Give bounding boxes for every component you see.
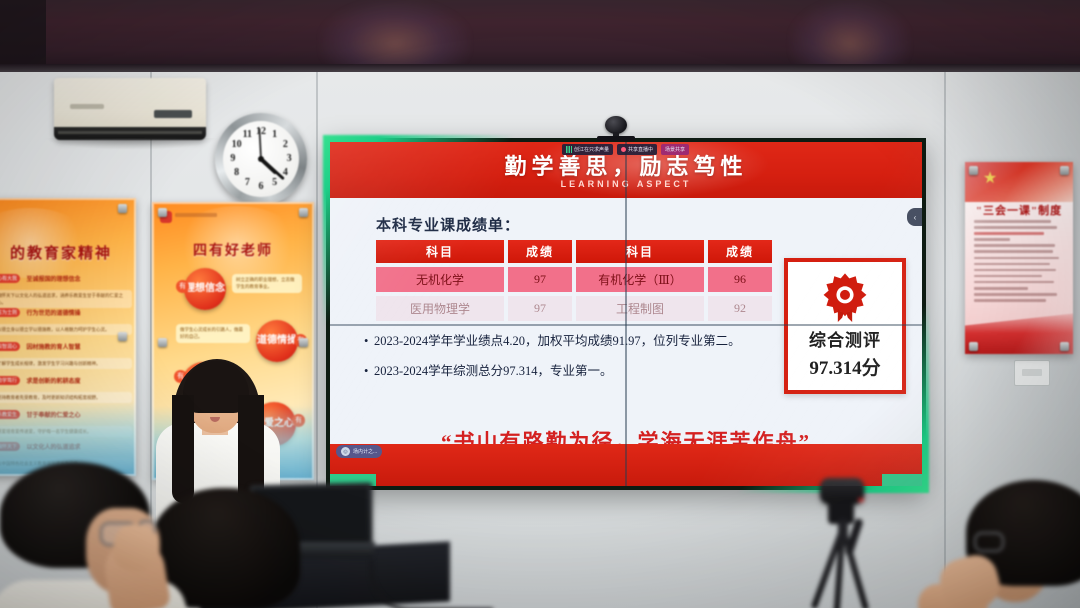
clock-center-pin [258, 156, 264, 162]
poster-clip [1060, 166, 1069, 175]
ceiling [0, 0, 1080, 72]
ceiling-light-reflection [320, 0, 470, 72]
audience-member-front-left [0, 462, 180, 608]
grade-cell-score: 92 [708, 296, 772, 321]
clock-number-9: 9 [226, 153, 240, 165]
bullet-dot: • [364, 356, 374, 386]
badge-score: 97.314分 [809, 353, 880, 380]
grade-table-row: 无机化学 97 有机化学（Ⅲ） 96 [376, 267, 772, 292]
grade-header-score: 成绩 [708, 240, 772, 263]
screen-corner-green [882, 474, 922, 486]
poster-clip [158, 208, 167, 217]
livestream-badge[interactable]: 创江在只求声量 [562, 144, 613, 155]
ac-brand-logo [70, 104, 104, 109]
audience-member-front-right [952, 480, 1080, 608]
grade-cell-subject: 无机化学 [376, 267, 504, 292]
screen-mounted-camera [603, 116, 629, 140]
video-camera-icon [820, 478, 864, 504]
poster-clip [969, 166, 978, 175]
poster-clip [118, 204, 127, 213]
poster-clip [158, 338, 167, 347]
grade-header-score: 成绩 [508, 240, 572, 263]
classroom-scene: 12 1 2 3 4 5 6 7 8 9 10 11 的教育家精神 心有大我 至… [0, 0, 1080, 608]
award-rosette-icon [822, 272, 868, 322]
grade-header-subject: 科目 [576, 240, 704, 263]
grade-cell-subject: 医用物理学 [376, 296, 504, 321]
clock-number-7: 7 [240, 177, 254, 189]
screen-panel-seam [625, 142, 627, 486]
clock-number-10: 10 [230, 139, 244, 151]
air-conditioner [54, 78, 206, 140]
clock-face: 12 1 2 3 4 5 6 7 8 9 10 11 [223, 121, 299, 197]
livestream-badge-label: 场景共享 [665, 146, 685, 153]
wall-socket-plate [1014, 360, 1050, 386]
camera-record-led [858, 498, 864, 502]
grade-table-header-row: 科目 成绩 科目 成绩 [376, 240, 772, 263]
clock-number-2: 2 [278, 139, 292, 151]
eyeglasses-icon [974, 532, 1004, 552]
poster-frame [0, 198, 136, 476]
bullet-dot: • [364, 326, 374, 356]
clock-number-12: 12 [254, 126, 268, 138]
wall-clock: 12 1 2 3 4 5 6 7 8 9 10 11 [215, 113, 307, 205]
poster-clip [1060, 342, 1069, 351]
achievement-bullets: •2023-2024学年学业绩点4.20，加权平均成绩91.97，位列专业第二。… [364, 326, 784, 386]
screen-panel-seam [330, 324, 922, 326]
panel-collapse-tab[interactable]: ‹ [907, 208, 922, 226]
poster-glass-reflection [965, 162, 1073, 354]
display-screen[interactable]: 勤学善思，励志笃性 LEARNING ASPECT 本科专业课成绩单： 科目 成… [326, 138, 926, 490]
signal-bars-icon [566, 146, 572, 153]
poster-clip [299, 338, 308, 347]
livestream-badge[interactable]: 共享直播中 [617, 144, 657, 155]
clock-number-3: 3 [282, 153, 296, 165]
clock-number-8: 8 [230, 167, 244, 179]
livestream-avatar-icon: ◎ [341, 447, 350, 456]
poster-clip [969, 342, 978, 351]
grade-cell-score: 97 [508, 267, 572, 292]
bullet-text: 2023-2024学年综测总分97.314，专业第一。 [374, 364, 613, 378]
livestream-badge-label: 共享直播中 [628, 146, 653, 153]
grade-cell-subject: 工程制图 [576, 296, 704, 321]
power-cable [370, 560, 493, 608]
grade-cell-score: 97 [508, 296, 572, 321]
grade-cell-subject: 有机化学（Ⅲ） [576, 267, 704, 292]
screen-content-area[interactable]: 勤学善思，励志笃性 LEARNING ASPECT 本科专业课成绩单： 科目 成… [330, 142, 922, 486]
poster-educator-spirit: 的教育家精神 心有大我 至诚报国的理想信念 胸怀天下以文化人的弘道追求，涵养乐教… [0, 198, 136, 476]
bullet-item: •2023-2024学年学业绩点4.20，加权平均成绩91.97，位列专业第二。 [364, 326, 784, 356]
livestream-status-bar[interactable]: 创江在只求声量 共享直播中 场景共享 [562, 144, 689, 155]
grade-table-row: 医用物理学 97 工程制图 92 [376, 296, 772, 321]
livestream-badge-label: 创江在只求声量 [574, 146, 609, 153]
bullet-text: 2023-2024学年学业绩点4.20，加权平均成绩91.97，位列专业第二。 [374, 334, 741, 348]
livestream-badge[interactable]: 场景共享 [661, 144, 689, 155]
ac-display-panel [154, 110, 192, 118]
clock-number-6: 6 [254, 181, 268, 193]
grade-table: 科目 成绩 科目 成绩 无机化学 97 有机化学（Ⅲ） 96 医用物理学 [376, 240, 772, 325]
poster-clip [118, 332, 127, 341]
ac-shadow [44, 138, 219, 150]
tripod-camera-rig [800, 478, 884, 608]
grade-header-subject: 科目 [376, 240, 504, 263]
comprehensive-evaluation-badge: 综合测评 97.314分 [784, 258, 906, 394]
clock-number-5: 5 [268, 177, 282, 189]
poster-clip [299, 208, 308, 217]
livestream-chip-label: 场内计之... [353, 448, 377, 455]
livestream-viewer-chip[interactable]: ◎ 场内计之... [336, 445, 382, 458]
clock-number-11: 11 [240, 129, 254, 141]
grade-cell-score: 96 [708, 267, 772, 292]
bullet-item: •2023-2024学年综测总分97.314，专业第一。 [364, 356, 784, 386]
live-dot-icon [621, 147, 626, 152]
transcript-section-label: 本科专业课成绩单： [376, 214, 520, 235]
badge-title: 综合测评 [809, 326, 881, 351]
ceiling-light-reflection [790, 0, 910, 72]
poster-party-three-meetings: ★ "三会一课"制度 [965, 162, 1073, 354]
camera-mount-bar [597, 136, 635, 141]
